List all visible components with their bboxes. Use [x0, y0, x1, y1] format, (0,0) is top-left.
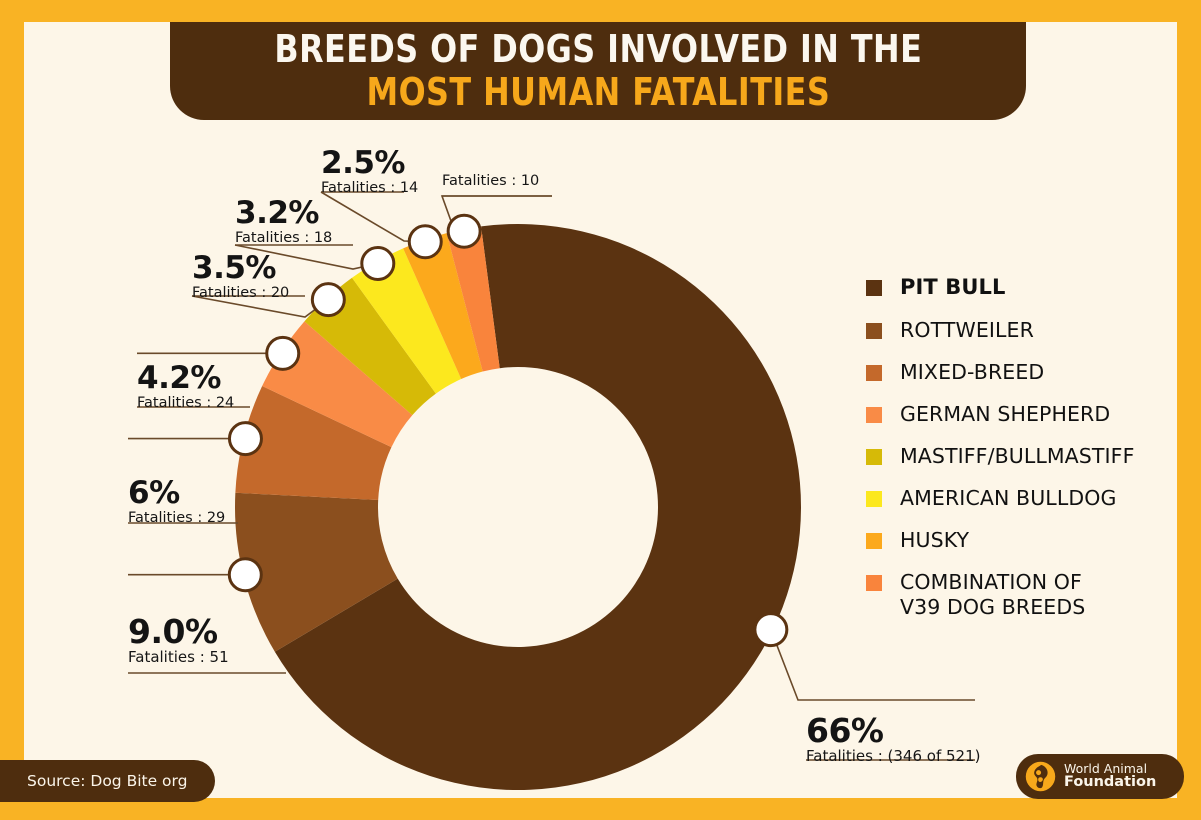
legend-item-label: GERMAN SHEPHERD — [900, 402, 1110, 427]
logo-line-1: World Animal — [1064, 762, 1156, 776]
callout-fatalities: Fatalities : 24 — [137, 394, 234, 414]
legend-swatch-icon — [866, 533, 882, 549]
legend-item-label: MIXED-BREED — [900, 360, 1044, 385]
callout-percent: 9.0% — [128, 615, 229, 648]
leader-marker-icon[interactable] — [229, 559, 261, 591]
source-badge: Source: Dog Bite org — [0, 760, 215, 802]
callout-fatalities: Fatalities : 51 — [128, 648, 229, 669]
callout-percent: 3.2% — [235, 198, 332, 229]
leader-marker-icon[interactable] — [755, 614, 787, 646]
legend-item[interactable]: GERMAN SHEPHERD — [866, 402, 1186, 427]
leader-marker-icon[interactable] — [448, 215, 480, 247]
source-label: Source: Dog Bite org — [27, 772, 187, 790]
animal-emblem-icon — [1025, 761, 1056, 792]
legend-item-label: HUSKY — [900, 528, 969, 553]
legend-swatch-icon — [866, 491, 882, 507]
legend-item[interactable]: MASTIFF/BULLMASTIFF — [866, 444, 1186, 469]
legend-swatch-icon — [866, 323, 882, 339]
legend-item[interactable]: AMERICAN BULLDOG — [866, 486, 1186, 511]
leader-marker-icon[interactable] — [229, 423, 261, 455]
callout-fatalities: Fatalities : 20 — [192, 284, 289, 304]
callout-percent: 2.5% — [321, 148, 418, 179]
callout-percent: 66% — [806, 714, 981, 747]
legend-item-label: MASTIFF/BULLMASTIFF — [900, 444, 1134, 469]
callout-american-bulldog: 3.2% Fatalities : 18 — [235, 198, 332, 249]
legend-item-label: PIT BULL — [900, 275, 1005, 301]
legend-swatch-icon — [866, 449, 882, 465]
legend-swatch-icon — [866, 280, 882, 296]
leader-marker-icon[interactable] — [362, 247, 394, 279]
leader-marker-icon[interactable] — [312, 284, 344, 316]
leader-marker-icon[interactable] — [409, 226, 441, 258]
callout-mastiff: 3.5% Fatalities : 20 — [192, 253, 289, 304]
callout-fatalities: Fatalities : 14 — [321, 179, 418, 199]
callout-percent: 4.2% — [137, 363, 234, 394]
legend-item-label: COMBINATION OFV39 DOG BREEDS — [900, 570, 1085, 620]
legend-swatch-icon — [866, 365, 882, 381]
callout-fatalities: Fatalities : 29 — [128, 509, 225, 529]
callout-husky: 2.5% Fatalities : 14 — [321, 148, 418, 199]
legend-item[interactable]: HUSKY — [866, 528, 1186, 553]
callout-percent: 6% — [128, 478, 225, 509]
legend-item-label: AMERICAN BULLDOG — [900, 486, 1116, 511]
callout-rottweiler: 9.0% Fatalities : 51 — [128, 615, 229, 669]
callout-pit-bull: 66% Fatalities : (346 of 521) — [806, 714, 981, 768]
logo-text: World Animal Foundation — [1064, 762, 1156, 791]
legend-swatch-icon — [866, 407, 882, 423]
leader-marker-icon[interactable] — [267, 337, 299, 369]
callout-german-shepherd: 4.2% Fatalities : 24 — [137, 363, 234, 414]
legend-item[interactable]: PIT BULL — [866, 275, 1186, 301]
legend-item-label: ROTTWEILER — [900, 318, 1034, 343]
logo-line-2: Foundation — [1064, 775, 1156, 791]
callout-mixed-breed: 6% Fatalities : 29 — [128, 478, 225, 529]
legend-item[interactable]: COMBINATION OFV39 DOG BREEDS — [866, 570, 1186, 620]
callout-combination: Fatalities : 10 — [442, 172, 539, 192]
legend-item[interactable]: ROTTWEILER — [866, 318, 1186, 343]
legend: PIT BULLROTTWEILERMIXED-BREEDGERMAN SHEP… — [866, 275, 1186, 637]
brand-logo[interactable]: World Animal Foundation — [1016, 754, 1184, 799]
legend-swatch-icon — [866, 575, 882, 591]
callout-percent: 3.5% — [192, 253, 289, 284]
callout-fatalities: Fatalities : 18 — [235, 229, 332, 249]
callout-fatalities: Fatalities : (346 of 521) — [806, 747, 981, 768]
legend-item[interactable]: MIXED-BREED — [866, 360, 1186, 385]
callout-fatalities: Fatalities : 10 — [442, 172, 539, 192]
infographic-root: BREEDS OF DOGS INVOLVED IN THE MOST HUMA… — [0, 0, 1201, 820]
leader-line — [771, 630, 975, 700]
